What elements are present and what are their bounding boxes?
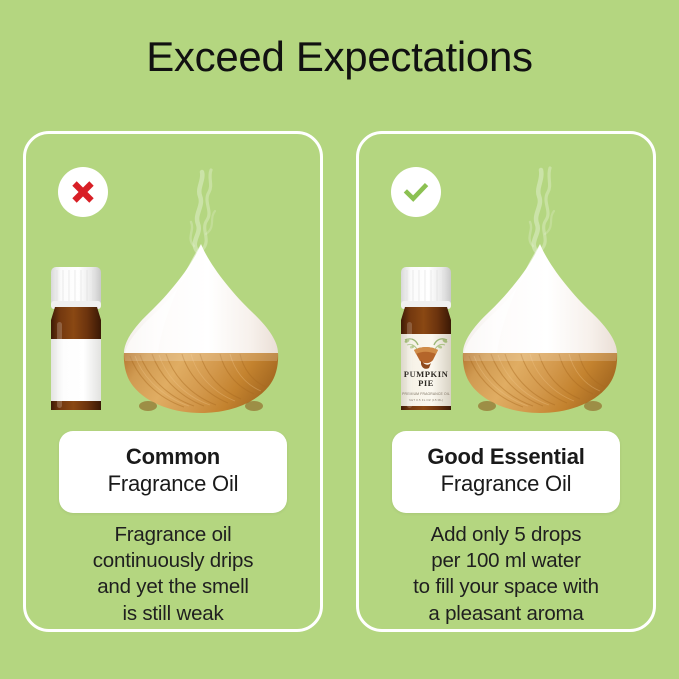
page-title: Exceed Expectations — [0, 34, 679, 80]
description-line: Fragrance oil — [26, 522, 320, 548]
product-scene-common — [26, 134, 320, 419]
description-line: continuously drips — [26, 548, 320, 574]
product-name: Good Essential — [402, 444, 610, 471]
product-name-box-good-essential: Good Essential Fragrance Oil — [392, 431, 620, 513]
product-subtitle: Fragrance Oil — [69, 471, 277, 498]
product-name: Common — [69, 444, 277, 471]
bottle-pumpkin-pie: PUMPKIN PIE PREMIUM FRAGRANCE OIL NET 0.… — [401, 267, 451, 410]
product-scene-good-essential: PUMPKIN PIE PREMIUM FRAGRANCE OIL NET 0.… — [359, 134, 653, 419]
description-line: a pleasant aroma — [359, 601, 653, 627]
product-name-box-common: Common Fragrance Oil — [59, 431, 287, 513]
description-line: to fill your space with — [359, 574, 653, 600]
comparison-card-common: Common Fragrance Oil Fragrance oil conti… — [23, 131, 323, 632]
product-subtitle: Fragrance Oil — [402, 471, 610, 498]
product-description-common: Fragrance oil continuously drips and yet… — [26, 522, 320, 627]
mist-icon — [530, 168, 554, 252]
description-line: Add only 5 drops — [359, 522, 653, 548]
description-line: per 100 ml water — [359, 548, 653, 574]
bottle-common — [51, 267, 101, 410]
comparison-card-good-essential: PUMPKIN PIE PREMIUM FRAGRANCE OIL NET 0.… — [356, 131, 656, 632]
label-name-line2: PIE — [418, 378, 434, 388]
description-line: and yet the smell — [26, 574, 320, 600]
description-line: is still weak — [26, 601, 320, 627]
mist-icon — [191, 170, 215, 252]
label-fineprint-2: NET 0.5 FL OZ (15 ML) — [409, 398, 444, 402]
product-description-good-essential: Add only 5 drops per 100 ml water to fil… — [359, 522, 653, 627]
